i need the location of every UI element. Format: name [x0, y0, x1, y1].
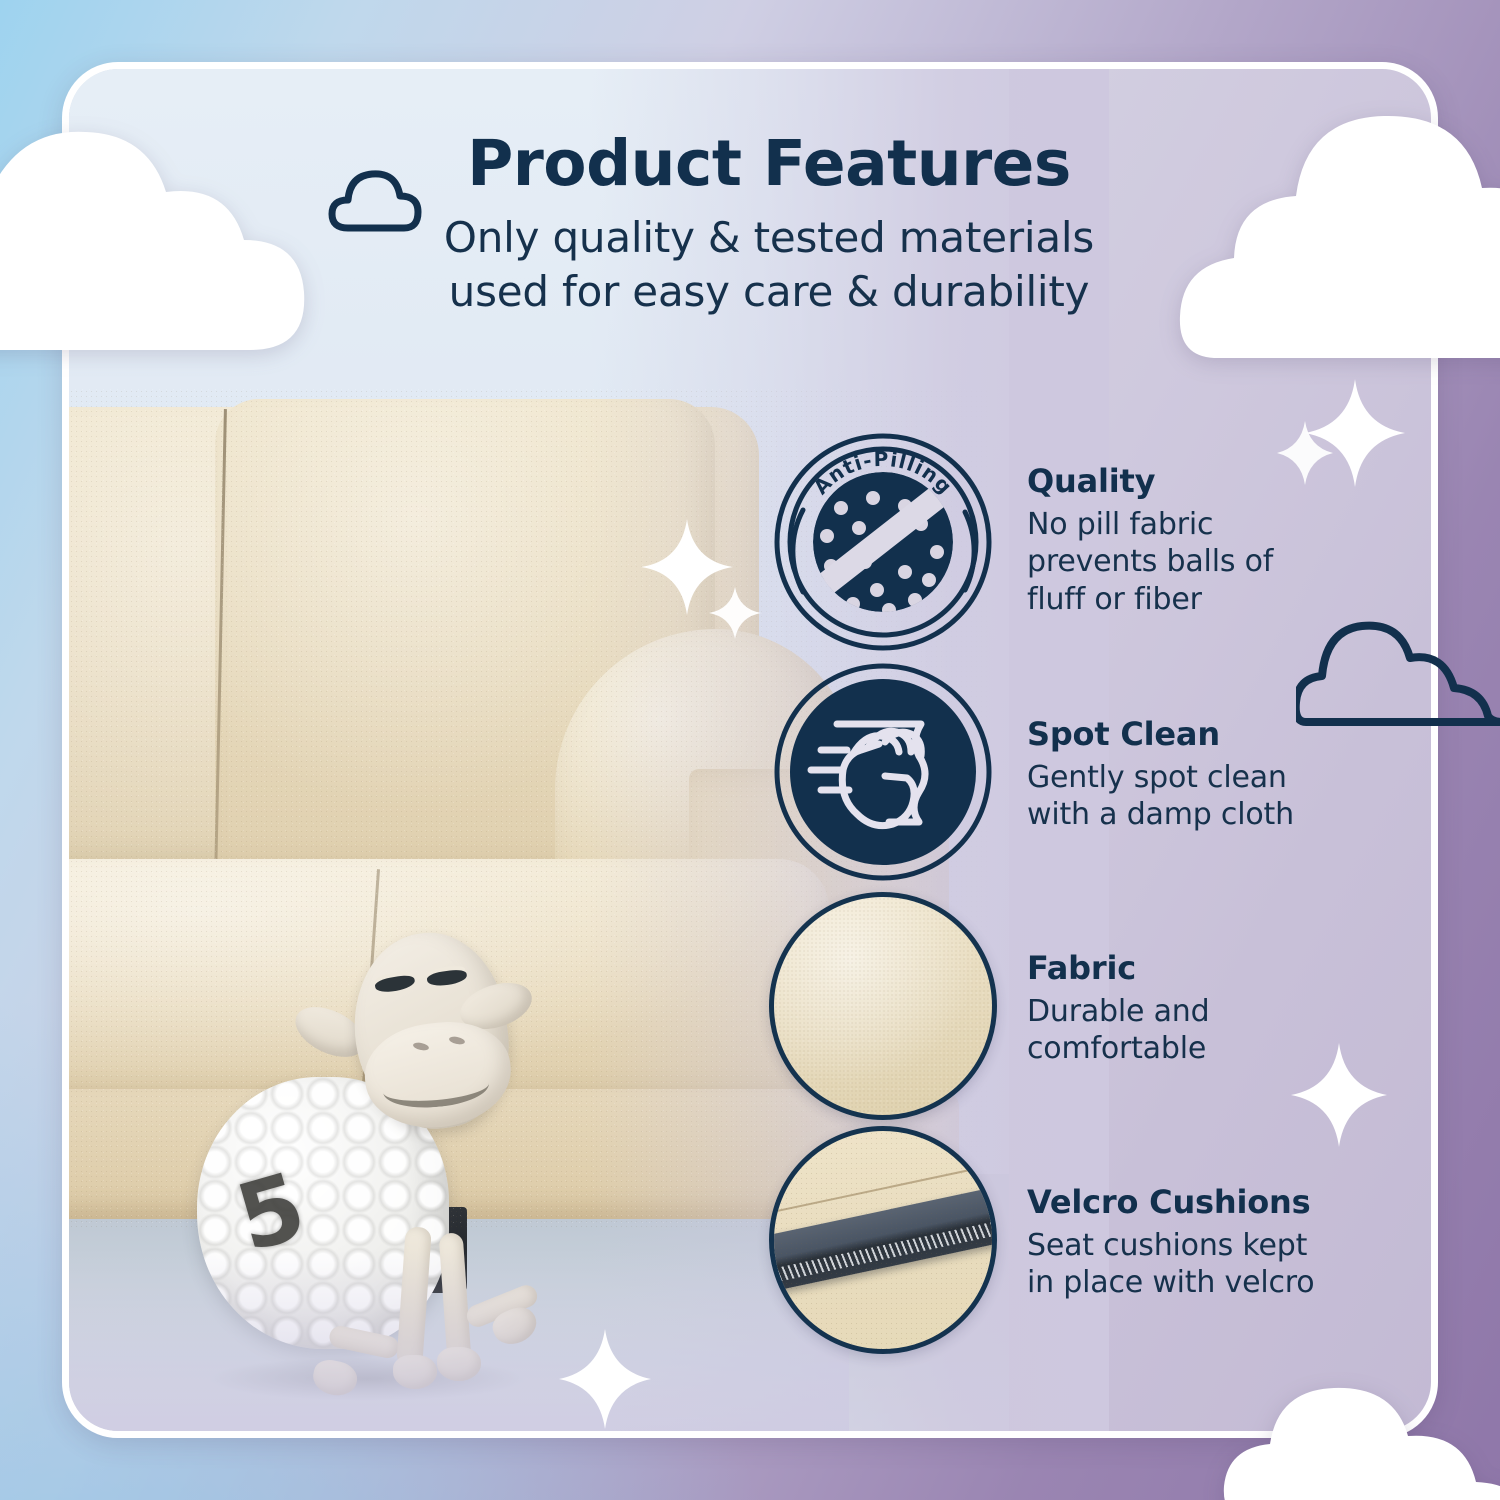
sparkle-left-pair — [635, 509, 765, 639]
velcro-seam — [769, 1150, 997, 1218]
cloud-outline-right — [1296, 596, 1500, 761]
cloud-top-left — [0, 80, 400, 380]
feature-name: Quality — [1027, 462, 1273, 500]
feature-text-spot-clean: Spot Clean Gently spot clean with a damp… — [1027, 711, 1294, 833]
mascot-front-leg-2 — [439, 1232, 472, 1361]
feature-item-velcro-cushions: Velcro Cushions Seat cushions kept in pl… — [769, 1123, 1409, 1357]
feature-description: Gently spot clean with a damp cloth — [1027, 759, 1294, 833]
feature-text-fabric: Fabric Durable and comfortable — [1027, 945, 1209, 1067]
cloud-top-right — [1178, 58, 1500, 368]
feature-description: Seat cushions kept in place with velcro — [1027, 1227, 1314, 1301]
infographic-canvas: 5 — [0, 0, 1500, 1500]
velcro-swatch — [769, 1126, 997, 1354]
velcro-strip — [769, 1176, 997, 1297]
fabric-swatch — [769, 892, 997, 1120]
feature-text-velcro: Velcro Cushions Seat cushions kept in pl… — [1027, 1179, 1314, 1301]
feature-name: Spot Clean — [1027, 715, 1294, 753]
feature-text-quality: Quality No pill fabric prevents balls of… — [1027, 458, 1273, 618]
hand-wiping-cloth-icon — [769, 658, 997, 886]
feature-description: No pill fabric prevents balls of fluff o… — [1027, 506, 1273, 618]
mascot-hoof-front-2 — [437, 1347, 481, 1381]
feature-list: Anti-Pilling Quality No pill fabric prev… — [769, 421, 1409, 1357]
anti-pilling-badge-icon: Anti-Pilling — [769, 424, 997, 652]
sheep-mascot: 5 — [187, 927, 567, 1427]
feature-description: Durable and comfortable — [1027, 993, 1209, 1067]
feature-name: Velcro Cushions — [1027, 1183, 1314, 1221]
fabric-closeup-photo-icon — [769, 892, 997, 1120]
velcro-hooks — [769, 1210, 997, 1290]
feature-item-fabric: Fabric Durable and comfortable — [769, 889, 1409, 1123]
feature-name: Fabric — [1027, 949, 1209, 987]
mascot-hoof-front — [393, 1355, 437, 1389]
sparkle-bottom — [553, 1321, 673, 1438]
velcro-strip-photo-icon — [769, 1126, 997, 1354]
cloud-bottom-right — [1222, 1330, 1500, 1500]
